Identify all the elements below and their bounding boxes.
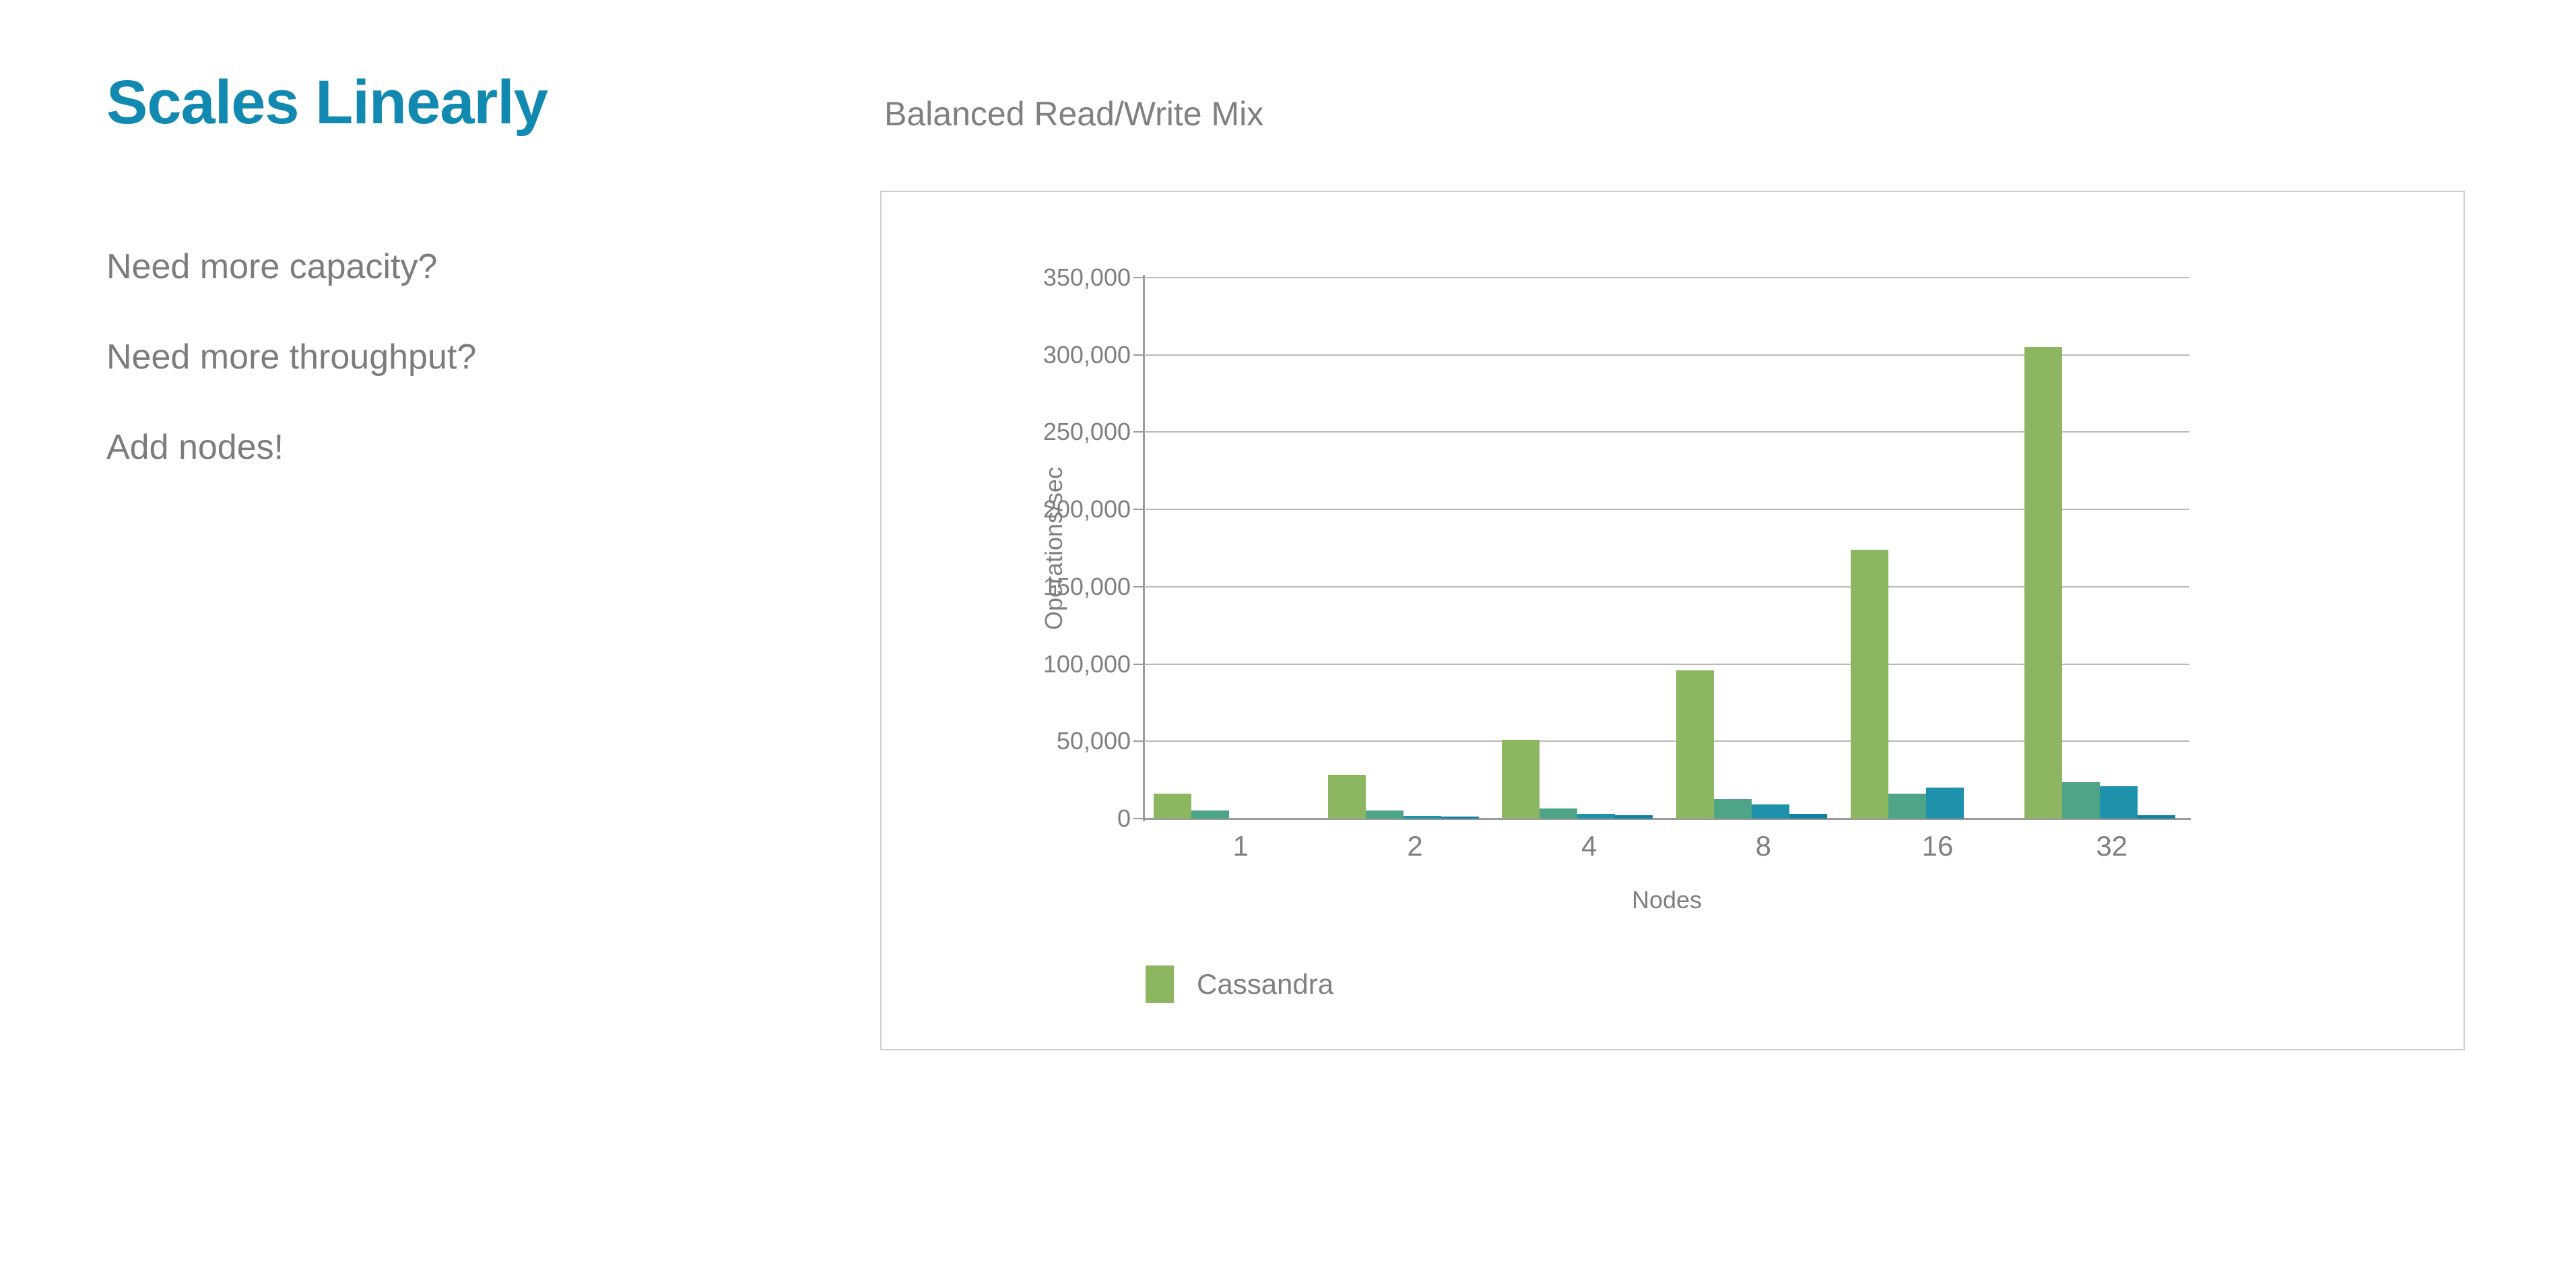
list-item: Need more capacity? xyxy=(106,249,820,284)
y-axis-tick-mark xyxy=(1133,354,1143,356)
bar[interactable] xyxy=(1577,814,1615,819)
bar[interactable] xyxy=(1154,794,1191,819)
y-axis-tick-mark xyxy=(1133,818,1143,819)
bar[interactable] xyxy=(1403,816,1441,819)
left-content-column: Scales Linearly Need more capacity? Need… xyxy=(106,71,820,465)
bar-group: 32 xyxy=(2015,278,2189,819)
y-axis-tick-mark xyxy=(1133,509,1143,510)
bar[interactable] xyxy=(1926,788,1964,819)
legend-label: Cassandra xyxy=(1197,968,1333,1000)
bar-group: 1 xyxy=(1144,278,1319,819)
bar[interactable] xyxy=(1441,817,1479,819)
y-axis-tick-mark xyxy=(1133,740,1143,742)
y-axis-tick-mark xyxy=(1133,664,1143,665)
y-axis-tick-label: 100,000 xyxy=(1043,650,1131,678)
bar-group: 8 xyxy=(1667,278,1841,819)
x-axis-tick-label: 32 xyxy=(2024,830,2199,862)
x-axis-tick-label: 2 xyxy=(1328,830,1502,862)
bar[interactable] xyxy=(1789,814,1827,819)
x-axis-tick-label: 16 xyxy=(1851,830,2025,862)
y-axis-tick-mark xyxy=(1133,277,1143,278)
y-axis-tick-mark xyxy=(1133,431,1143,433)
y-axis-tick-label: 250,000 xyxy=(1043,418,1131,446)
bar-groups: 12481632 xyxy=(1144,278,2189,819)
list-item: Need more throughput? xyxy=(106,340,820,375)
bar[interactable] xyxy=(1888,794,1926,819)
bar[interactable] xyxy=(1851,550,1888,819)
bar[interactable] xyxy=(1615,815,1653,819)
bar-group: 4 xyxy=(1492,278,1667,819)
legend-swatch xyxy=(1146,965,1174,1003)
x-axis-tick-label: 1 xyxy=(1154,830,1328,862)
chart-container: Operations/sec 050,000100,000150,000200,… xyxy=(880,191,2465,1050)
bar[interactable] xyxy=(1676,670,1714,819)
bar[interactable] xyxy=(2100,786,2138,819)
y-axis-tick-label: 350,000 xyxy=(1043,263,1131,292)
bar[interactable] xyxy=(1540,808,1577,819)
bar-group: 2 xyxy=(1319,278,1493,819)
chart-legend: Cassandra xyxy=(1146,965,1333,1003)
x-axis-tick-label: 4 xyxy=(1502,830,1676,862)
bar[interactable] xyxy=(1328,775,1366,819)
bar[interactable] xyxy=(1366,810,1403,819)
slide-root: Scales Linearly Need more capacity? Need… xyxy=(0,0,2576,1272)
bar[interactable] xyxy=(2062,782,2100,819)
bar[interactable] xyxy=(1191,810,1229,819)
y-axis-title: Operations/sec xyxy=(1040,466,1068,629)
x-axis-tick-label: 8 xyxy=(1676,830,1851,862)
y-axis-tick-mark xyxy=(1133,586,1143,587)
y-axis-tick-label: 0 xyxy=(1117,804,1131,833)
list-item: Add nodes! xyxy=(106,430,820,465)
bar[interactable] xyxy=(2138,815,2175,819)
bar-group: 16 xyxy=(1841,278,2016,819)
x-axis-title: Nodes xyxy=(1144,886,2189,914)
plot-area: Operations/sec 050,000100,000150,000200,… xyxy=(1144,278,2189,819)
bar[interactable] xyxy=(1752,804,1789,819)
y-axis-tick-label: 300,000 xyxy=(1043,341,1131,369)
bar[interactable] xyxy=(1502,740,1540,819)
bullet-list: Need more capacity? Need more throughput… xyxy=(106,249,820,465)
bar[interactable] xyxy=(1714,799,1752,819)
bar[interactable] xyxy=(2024,347,2062,819)
y-axis-tick-label: 200,000 xyxy=(1043,495,1131,523)
page-title: Scales Linearly xyxy=(106,71,820,133)
chart-title: Balanced Read/Write Mix xyxy=(884,94,1263,133)
y-axis-tick-label: 150,000 xyxy=(1043,573,1131,601)
y-axis-tick-label: 50,000 xyxy=(1057,727,1131,755)
